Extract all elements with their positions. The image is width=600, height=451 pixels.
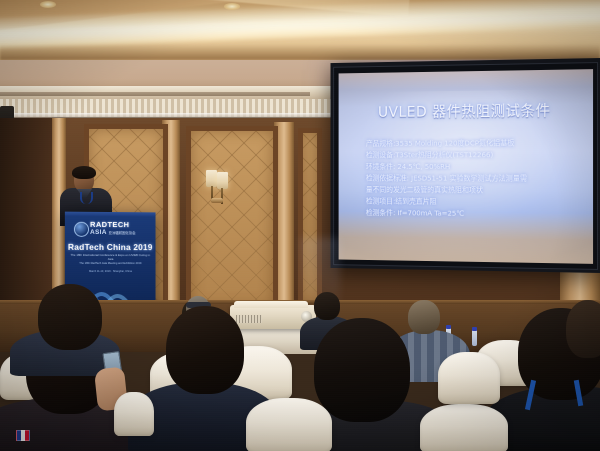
attendee-head: [566, 300, 600, 358]
crown-rail: [0, 92, 310, 96]
attendee-head-longhair: [314, 318, 410, 422]
podium-event-line1: The 18th International Conference & Expo…: [69, 253, 152, 261]
presenter-lanyard: [80, 192, 93, 204]
chair: [420, 404, 508, 451]
projector-vent: [236, 315, 262, 323]
slide-body: 产品规格:3535 Molding 120度DCP氮化铝基板 检测设备:T3St…: [366, 137, 579, 221]
sconce-backplate: [211, 198, 223, 203]
slide-line: 检测依据标准: JESD51-51 实验数学测试方法测量需: [366, 173, 579, 185]
slide-line: 环境条件: 24.5℃, 50%RH: [366, 161, 579, 173]
ceiling-shadow: [0, 44, 600, 60]
attendee-head: [166, 306, 244, 394]
projection-screen[interactable]: UVLED 器件热阻测试条件 产品规格:3535 Molding 120度DCP…: [330, 58, 600, 273]
podium-event-line2: The 18th RadTech Asia Meeting and Exhibi…: [69, 262, 152, 266]
screen-surface: UVLED 器件热阻测试条件 产品规格:3535 Molding 120度DCP…: [339, 69, 593, 264]
ceiling-downlight: [40, 1, 56, 8]
podium-event-dates: March 11-13, 2019 · Shanghai, China: [69, 270, 152, 273]
podium-logo-sub: ASIA 亚洲辐射固化协会: [90, 229, 136, 237]
projector-top: [234, 301, 308, 308]
chair: [246, 398, 332, 451]
slide-title: UVLED 器件热阻测试条件: [339, 99, 593, 122]
chair: [438, 352, 500, 404]
podium-logo-sub-main: ASIA: [90, 229, 106, 236]
podium-logo-text: RADTECH: [90, 221, 129, 229]
wall-panel-quilted: [298, 128, 322, 308]
wall-sconce: [206, 170, 232, 204]
slide: UVLED 器件热阻测试条件 产品规格:3535 Molding 120度DCP…: [339, 69, 593, 264]
presenter-hair: [72, 166, 96, 179]
podium-logo-sub-cn: 亚洲辐射固化协会: [109, 231, 136, 235]
sconce-shade: [206, 170, 217, 187]
attendee-head: [314, 292, 340, 320]
attendee-head: [408, 300, 440, 334]
screen-border: UVLED 器件热阻测试条件 产品规格:3535 Molding 120度DCP…: [333, 62, 598, 270]
slide-line: 产品规格:3535 Molding 120度DCP氮化铝基板: [366, 137, 579, 150]
bottle-cap: [446, 325, 451, 329]
chair: [114, 392, 154, 436]
slide-line: 检测条件: If=700mA Ta=25℃: [366, 207, 579, 221]
podium-top-surface: [65, 212, 156, 217]
water-bottle: [472, 330, 477, 346]
flag-pin-icon: [16, 430, 30, 441]
podium-logo: RADTECH ASIA 亚洲辐射固化协会: [74, 221, 148, 237]
wall-panel-quilted: [186, 126, 278, 312]
slide-line: 检测设备:T3Ster热阻分析仪(TST12266): [366, 149, 579, 161]
sconce-shade: [217, 172, 228, 189]
podium-event-title: RadTech China 2019: [65, 242, 156, 252]
attendee-head: [38, 284, 102, 350]
bottle-cap: [472, 327, 477, 331]
ceiling-downlight: [224, 3, 240, 10]
radtech-emblem-icon: [74, 222, 89, 237]
conference-photo-scene: UVLED 器件热阻测试条件 产品规格:3535 Molding 120度DCP…: [0, 0, 600, 451]
